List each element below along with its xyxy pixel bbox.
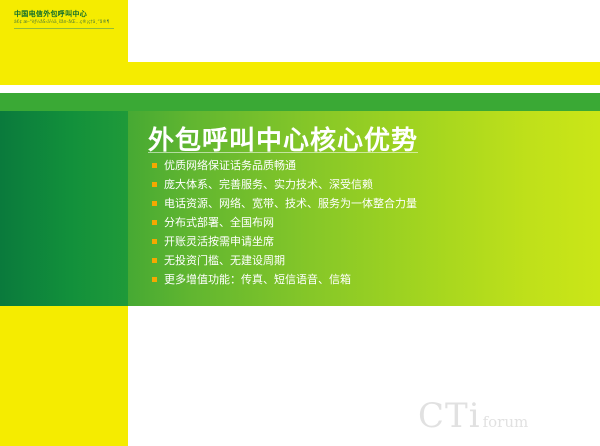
bottom-white-area xyxy=(128,306,600,446)
watermark-secondary: forum xyxy=(483,413,529,431)
bullet-list: 优质网络保证话务品质畅通 庞大体系、完善服务、实力技术、深受信赖 电话资源、网络… xyxy=(152,158,572,291)
bullet-label: 无投资门槛、无建设周期 xyxy=(164,253,285,268)
list-item: 优质网络保证话务品质畅通 xyxy=(152,158,572,175)
white-gap-strip xyxy=(0,85,600,93)
bullet-label: 电话资源、网络、宽带、技术、服务为一体整合力量 xyxy=(164,196,417,211)
company-logo: 中国电信外包呼叫中心 â€¢ æ–°èƒ½åŠ›ä¼ä¸šå¤–åŒ…ç®¡ç†… xyxy=(14,10,122,29)
bullet-label: 优质网络保证话务品质畅通 xyxy=(164,158,296,173)
list-item: 分布式部署、全国布网 xyxy=(152,215,572,232)
bullet-square-icon xyxy=(152,163,157,168)
list-item: 无投资门槛、无建设周期 xyxy=(152,253,572,270)
green-left-column xyxy=(0,111,128,306)
yellow-bottom-left-block xyxy=(0,306,128,446)
bullet-label: 更多增值功能：传真、短信语音、信箱 xyxy=(164,272,351,287)
logo-company-name: 中国电信外包呼叫中心 xyxy=(14,10,122,19)
bullet-square-icon xyxy=(152,182,157,187)
bullet-square-icon xyxy=(152,277,157,282)
watermark: CTi forum xyxy=(418,396,528,436)
logo-divider xyxy=(14,28,114,29)
bullet-label: 开账灵活按需申请坐席 xyxy=(164,234,274,249)
green-horizontal-band xyxy=(0,93,600,111)
bullet-square-icon xyxy=(152,258,157,263)
bullet-label: 庞大体系、完善服务、实力技术、深受信赖 xyxy=(164,177,373,192)
title-underline xyxy=(148,152,418,153)
logo-tagline: â€¢ æ–°èƒ½åŠ›ä¼ä¸šå¤–åŒ…ç®¡ç†ä¸“å®¶ xyxy=(14,20,117,26)
watermark-primary: CTi xyxy=(418,396,481,436)
list-item: 庞大体系、完善服务、实力技术、深受信赖 xyxy=(152,177,572,194)
yellow-horizontal-band xyxy=(0,62,600,85)
list-item: 开账灵活按需申请坐席 xyxy=(152,234,572,251)
bullet-square-icon xyxy=(152,239,157,244)
list-item: 电话资源、网络、宽带、技术、服务为一体整合力量 xyxy=(152,196,572,213)
slide-canvas: 中国电信外包呼叫中心 â€¢ æ–°èƒ½åŠ›ä¼ä¸šå¤–åŒ…ç®¡ç†… xyxy=(0,0,600,446)
list-item: 更多增值功能：传真、短信语音、信箱 xyxy=(152,272,572,289)
bullet-square-icon xyxy=(152,220,157,225)
bullet-label: 分布式部署、全国布网 xyxy=(164,215,274,230)
bullet-square-icon xyxy=(152,201,157,206)
